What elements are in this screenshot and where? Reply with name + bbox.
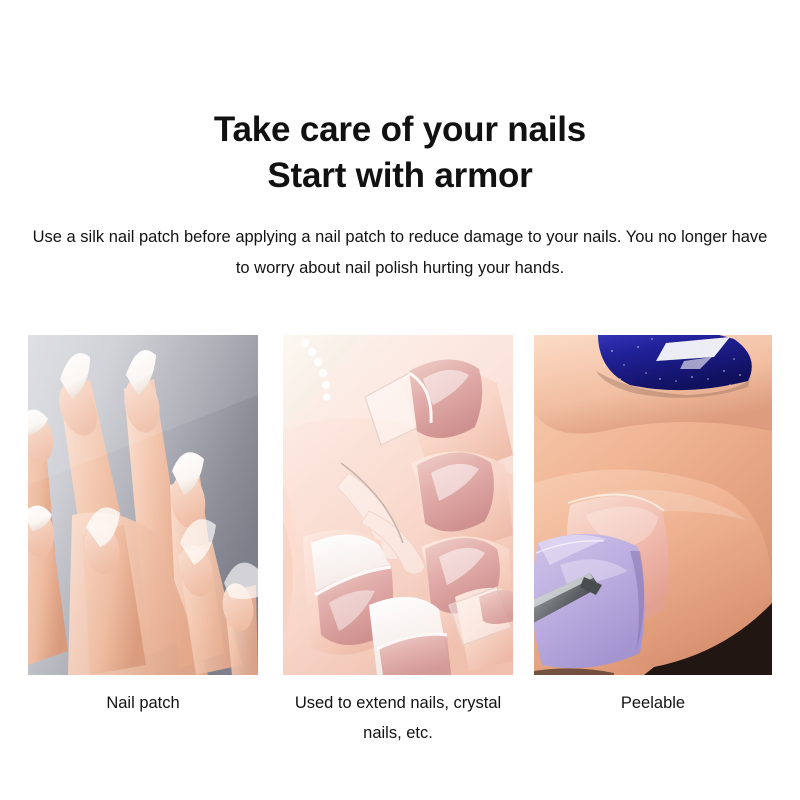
caption-peelable: Peelable — [534, 688, 772, 718]
headline-line-2: Start with armor — [0, 153, 800, 199]
product-image-extend-nails — [283, 335, 513, 675]
product-image-row — [28, 335, 772, 675]
product-image-nail-patch — [28, 335, 258, 675]
headline-line-1: Take care of your nails — [0, 107, 800, 153]
caption-row: Nail patch Used to extend nails, crystal… — [28, 688, 772, 768]
page-title: Take care of your nails Start with armor — [0, 107, 800, 199]
peelable-photo — [534, 335, 772, 675]
product-banner-page: Take care of your nails Start with armor… — [0, 0, 800, 800]
product-image-peelable — [534, 335, 772, 675]
body-copy: Use a silk nail patch before applying a … — [28, 222, 772, 284]
extend-nails-photo — [283, 335, 513, 675]
caption-extend-nails: Used to extend nails, crystal nails, etc… — [283, 688, 513, 748]
caption-nail-patch: Nail patch — [28, 688, 258, 718]
nail-patch-photo — [28, 335, 258, 675]
